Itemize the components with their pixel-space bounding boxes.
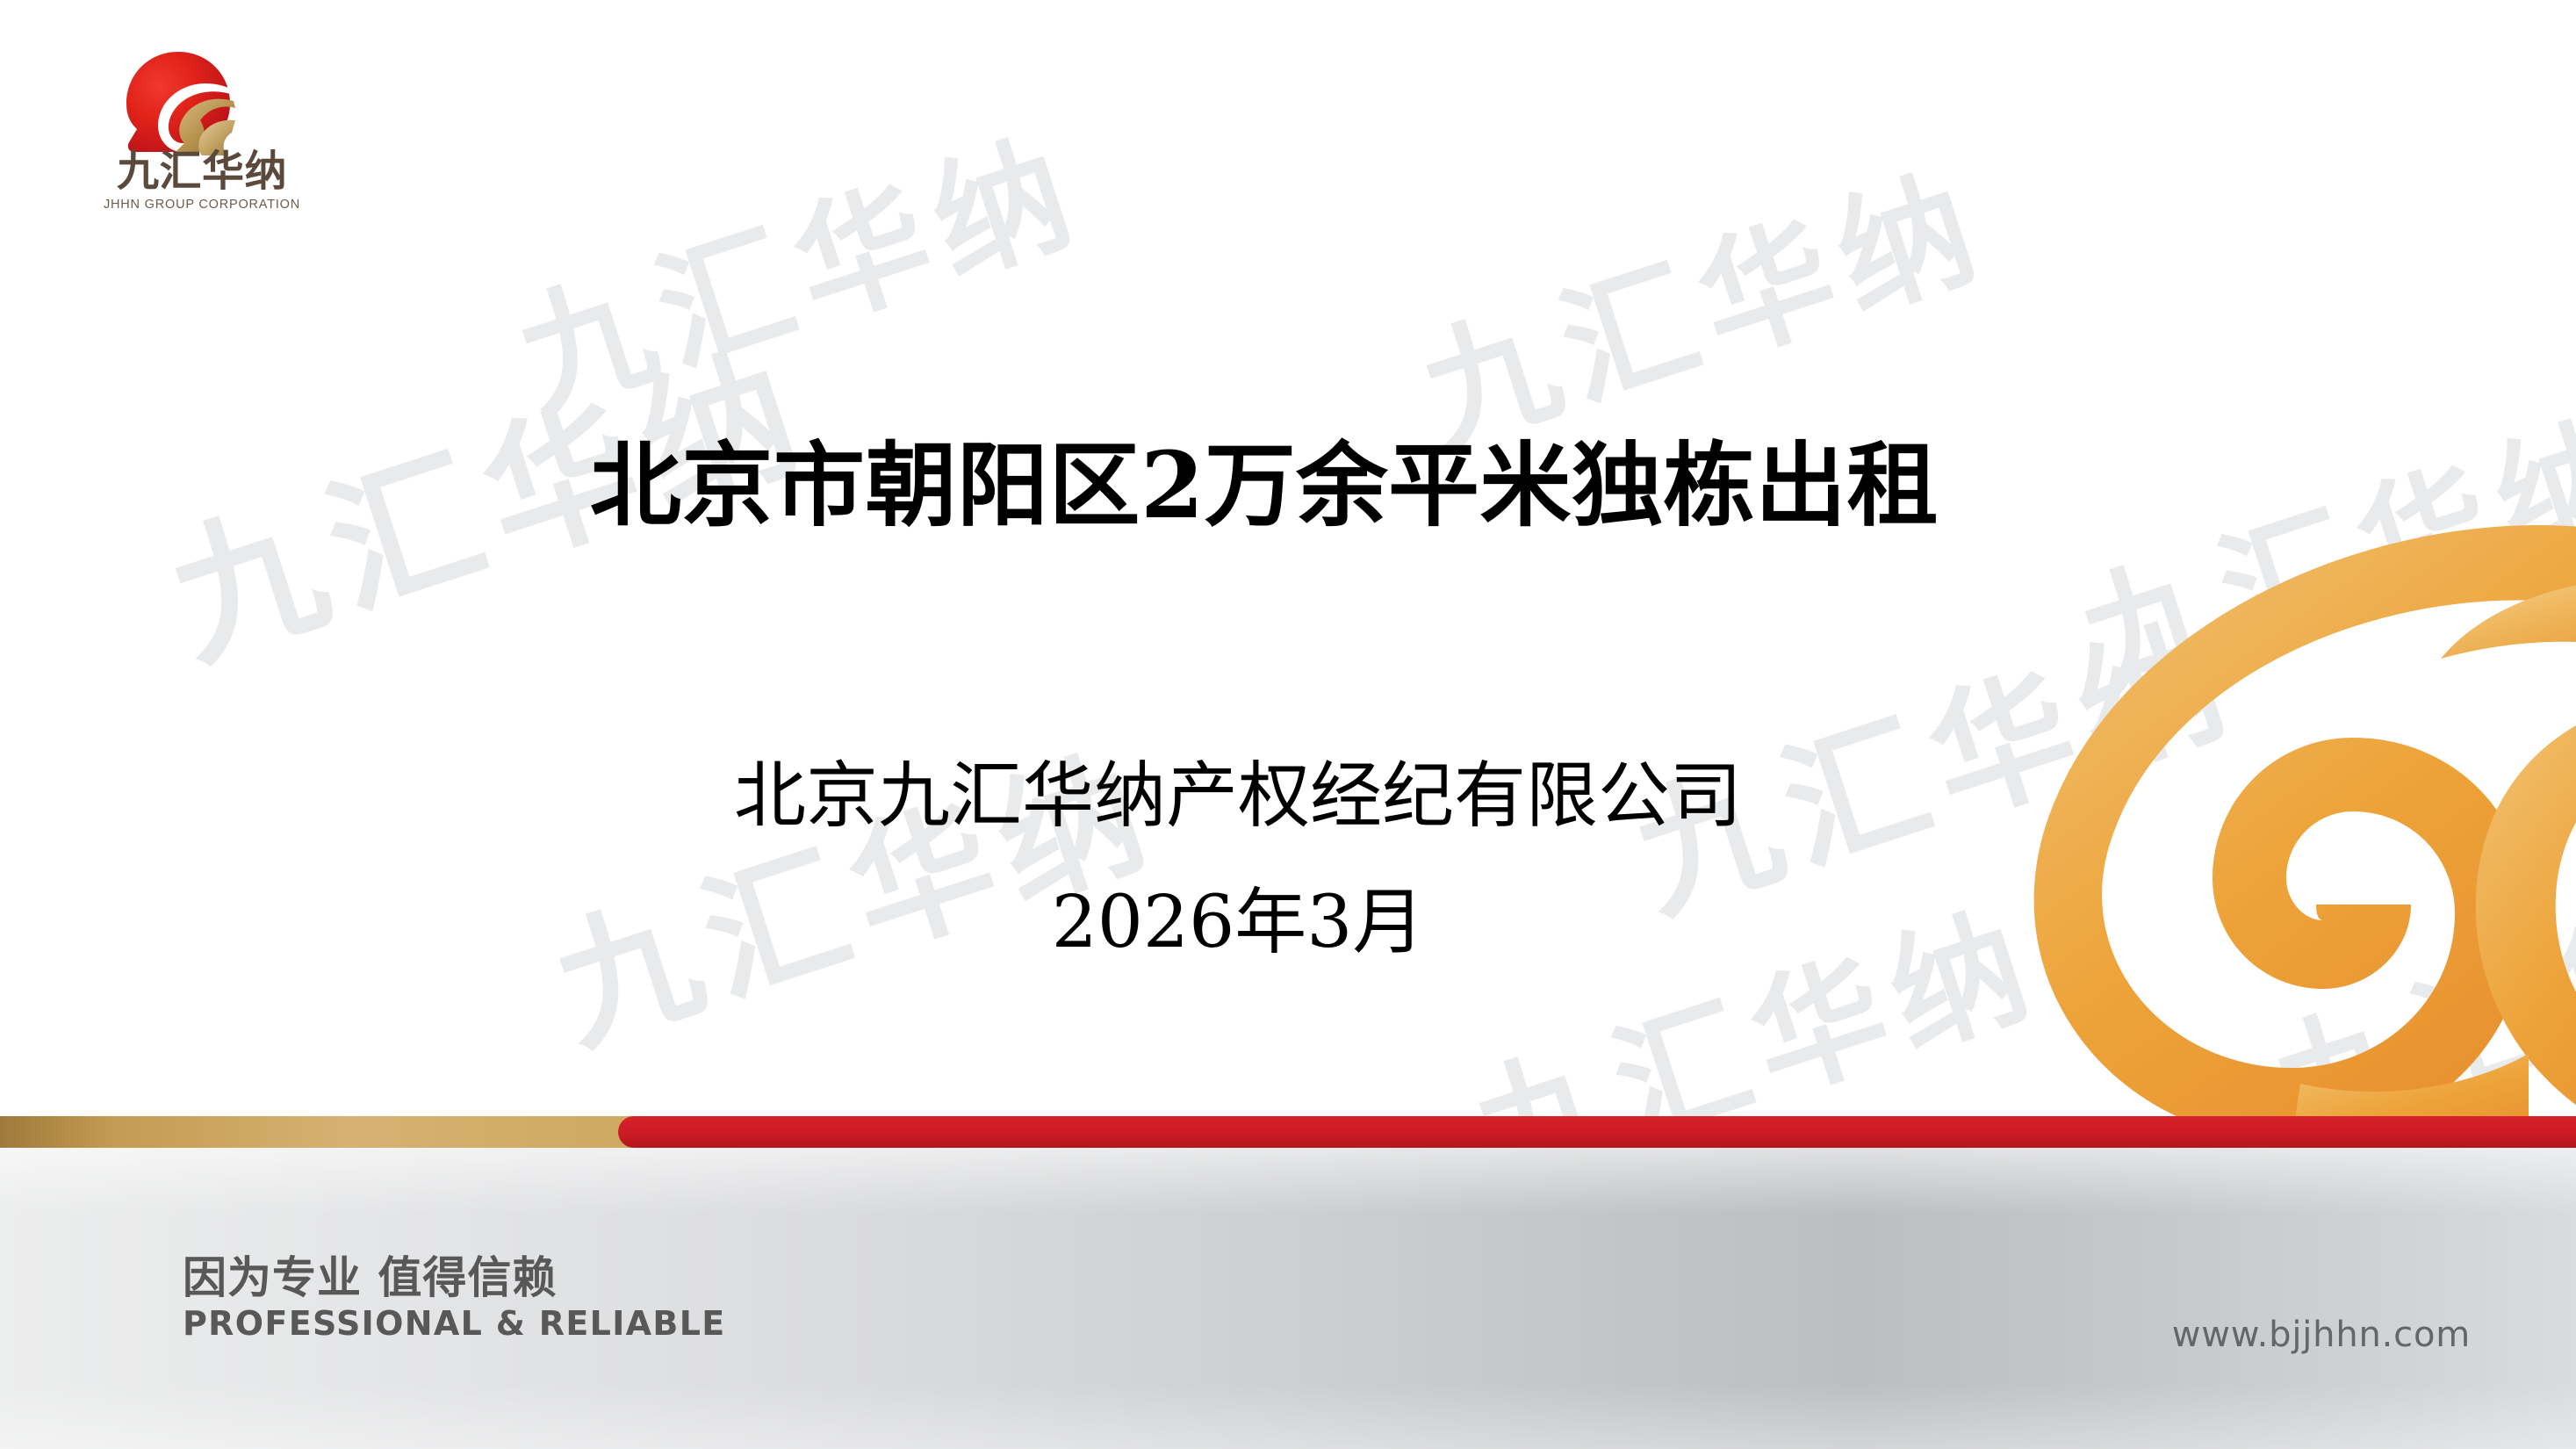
watermark-text: 九汇华纳 (492, 84, 1102, 444)
footer-slogan-cn: 因为专业 值得信赖 (183, 1254, 726, 1301)
accent-bar-gold-segment (0, 1116, 634, 1148)
footer-website: www.bjjhhn.com (2172, 1317, 2471, 1352)
watermark-text: 九汇华纳 (1396, 119, 2006, 479)
page-title: 北京市朝阳区2万余平米独栋出租 (0, 436, 2529, 536)
jhhn-swirl-mark-icon (121, 48, 235, 155)
accent-bar-red-segment (618, 1116, 2576, 1148)
presentation-title-slide: 九汇华纳 九汇华纳 九汇华纳 九汇华纳 九汇华纳 九汇华纳 九汇华纳 九汇华纳 … (0, 0, 2576, 1449)
brand-name-cn: 九汇华纳 (97, 150, 307, 192)
brand-wordmark: 九汇华纳 JHHN GROUP CORPORATION (97, 150, 307, 212)
brand-logo: 九汇华纳 JHHN GROUP CORPORATION (97, 48, 307, 206)
watermark-text: 九汇华纳 (2054, 365, 2576, 725)
brand-name-en: JHHN GROUP CORPORATION (97, 198, 307, 212)
footer-slogan: 因为专业 值得信赖 PROFESSIONAL & RELIABLE (183, 1254, 726, 1342)
slide-date: 2026年3月 (0, 883, 2476, 962)
footer-slogan-en: PROFESSIONAL & RELIABLE (183, 1307, 726, 1342)
company-subtitle: 北京九汇华纳产权经纪有限公司 (0, 757, 2476, 836)
accent-bar (0, 1116, 2576, 1148)
